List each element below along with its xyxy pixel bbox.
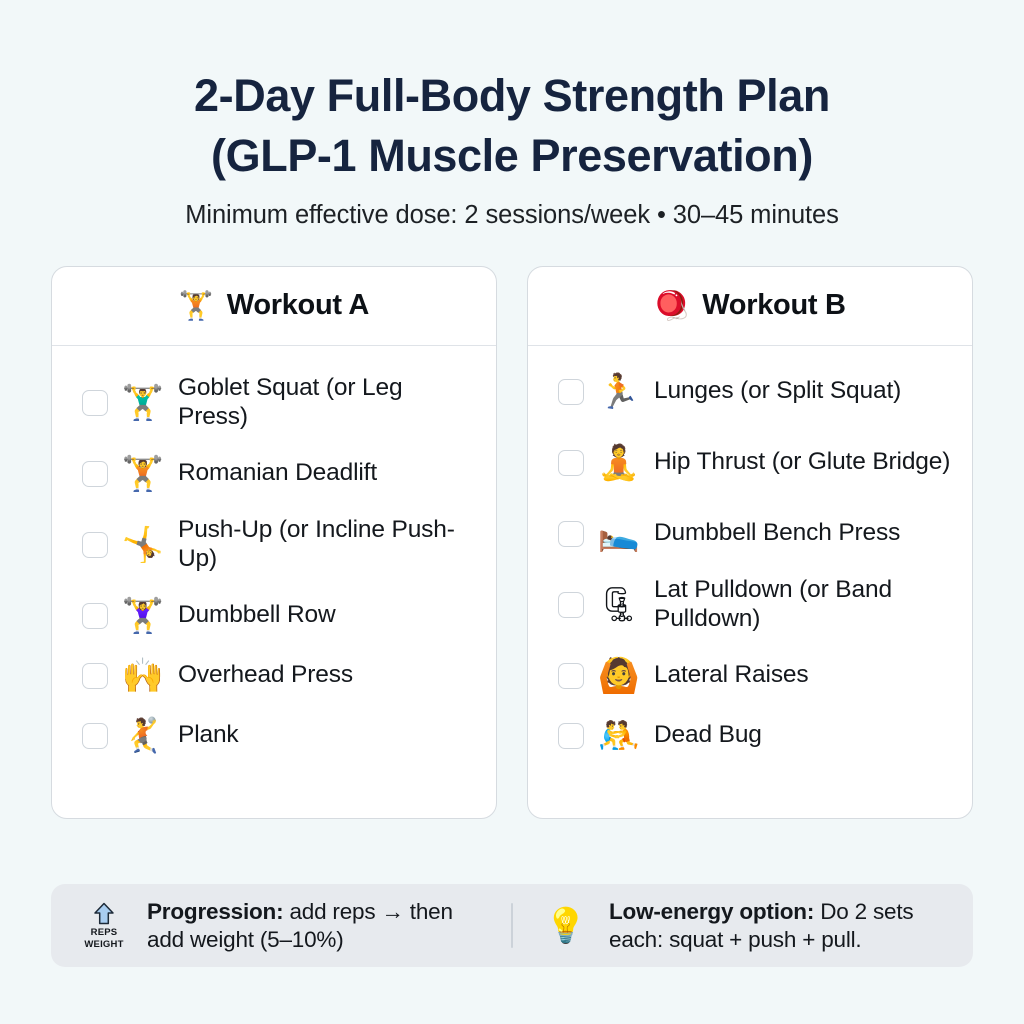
tip-low-energy: 💡 Low-energy option: Do 2 sets each: squ… (513, 884, 973, 967)
romanian-deadlift-icon: 🏋️ (120, 457, 166, 491)
tip-progression-text: Progression: add reps → then add weight … (147, 898, 491, 953)
exercise-label: Push-Up (or Incline Push-Up) (178, 516, 478, 574)
footer-tips-bar: REPS WEIGHT Progression: add reps → then… (51, 884, 973, 967)
exercise-checkbox[interactable] (82, 461, 108, 487)
list-item[interactable]: 🙆 Lateral Raises (528, 646, 972, 706)
list-item[interactable]: 🏃 Lunges (or Split Squat) (528, 362, 972, 422)
list-item[interactable]: 🤾 Plank (52, 706, 496, 766)
list-item[interactable]: 🏋️ Romanian Deadlift (52, 444, 496, 504)
dumbbell-row-icon: 🏋️‍♀️ (120, 599, 166, 633)
exercise-checkbox[interactable] (558, 663, 584, 689)
lat-pulldown-icon: 🗜 (596, 588, 642, 622)
list-item[interactable]: 🤸 Push-Up (or Incline Push-Up) (52, 504, 496, 586)
page-subtitle: Minimum effective dose: 2 sessions/week … (51, 200, 973, 232)
tip-progression: REPS WEIGHT Progression: add reps → then… (51, 884, 511, 967)
page-title-line-2: (GLP-1 Muscle Preservation) (51, 126, 973, 186)
lightbulb-glyph: 💡 (543, 909, 589, 943)
exercise-label: Lateral Raises (654, 661, 809, 690)
dead-bug-icon: 🤼 (596, 719, 642, 753)
bench-press-icon: 🛌 (596, 517, 642, 551)
workout-a-title: Workout A (227, 289, 369, 322)
workout-card-a: 🏋 Workout A 🏋️‍♂️ Goblet Squat (or Leg P… (51, 266, 497, 819)
goblet-squat-icon: 🏋️‍♂️ (120, 386, 166, 420)
exercise-label: Hip Thrust (or Glute Bridge) (654, 448, 950, 477)
kettlebell-icon: 🪀 (654, 292, 689, 320)
exercise-checkbox[interactable] (82, 532, 108, 558)
exercise-checkbox[interactable] (82, 663, 108, 689)
progression-icon-label-top: REPS (91, 927, 118, 938)
list-item[interactable]: 🗜 Lat Pulldown (or Band Pulldown) (528, 564, 972, 646)
lateral-raise-icon: 🙆 (596, 659, 642, 693)
tip-progression-lead: Progression: (147, 899, 283, 924)
list-item[interactable]: 🧘 Hip Thrust (or Glute Bridge) (528, 422, 972, 504)
workout-a-header: 🏋 Workout A (52, 267, 496, 346)
lightbulb-icon: 💡 (537, 909, 595, 943)
page-title: 2-Day Full-Body Strength Plan (GLP-1 Mus… (51, 66, 973, 186)
exercise-checkbox[interactable] (82, 723, 108, 749)
infographic-page: 2-Day Full-Body Strength Plan (GLP-1 Mus… (0, 0, 1024, 1024)
workout-b-list: 🏃 Lunges (or Split Squat) 🧘 Hip Thrust (… (528, 346, 972, 818)
list-item[interactable]: 🙌 Overhead Press (52, 646, 496, 706)
progression-icon-label-bottom: WEIGHT (84, 939, 123, 950)
tip-low-energy-lead: Low-energy option: (609, 899, 814, 924)
list-item[interactable]: 🛌 Dumbbell Bench Press (528, 504, 972, 564)
exercise-checkbox[interactable] (82, 603, 108, 629)
exercise-checkbox[interactable] (558, 592, 584, 618)
exercise-label: Overhead Press (178, 661, 353, 690)
workout-b-header: 🪀 Workout B (528, 267, 972, 346)
plank-icon: 🤾 (120, 719, 166, 753)
progression-arrow-icon: REPS WEIGHT (75, 901, 133, 949)
exercise-label: Dumbbell Row (178, 601, 336, 630)
push-up-icon: 🤸 (120, 528, 166, 562)
list-item[interactable]: 🏋️‍♂️ Goblet Squat (or Leg Press) (52, 362, 496, 444)
workout-cards: 🏋 Workout A 🏋️‍♂️ Goblet Squat (or Leg P… (51, 266, 973, 819)
list-item[interactable]: 🤼 Dead Bug (528, 706, 972, 766)
overhead-press-icon: 🙌 (120, 659, 166, 693)
exercise-checkbox[interactable] (558, 521, 584, 547)
exercise-label: Lat Pulldown (or Band Pulldown) (654, 576, 954, 634)
tip-low-energy-text: Low-energy option: Do 2 sets each: squat… (609, 898, 953, 953)
exercise-checkbox[interactable] (558, 723, 584, 749)
page-title-line-1: 2-Day Full-Body Strength Plan (51, 66, 973, 126)
exercise-label: Romanian Deadlift (178, 459, 377, 488)
exercise-checkbox[interactable] (82, 390, 108, 416)
exercise-label: Plank (178, 721, 239, 750)
exercise-label: Lunges (or Split Squat) (654, 377, 901, 406)
workout-card-b: 🪀 Workout B 🏃 Lunges (or Split Squat) 🧘 … (527, 266, 973, 819)
workout-a-list: 🏋️‍♂️ Goblet Squat (or Leg Press) 🏋️ Rom… (52, 346, 496, 818)
workout-b-title: Workout B (702, 289, 845, 322)
dumbbell-icon: 🏋 (179, 292, 214, 320)
hip-thrust-icon: 🧘 (596, 446, 642, 480)
exercise-checkbox[interactable] (558, 379, 584, 405)
lunge-icon: 🏃 (596, 375, 642, 409)
exercise-checkbox[interactable] (558, 450, 584, 476)
exercise-label: Dead Bug (654, 721, 762, 750)
page-header: 2-Day Full-Body Strength Plan (GLP-1 Mus… (51, 0, 973, 232)
exercise-label: Goblet Squat (or Leg Press) (178, 374, 478, 432)
list-item[interactable]: 🏋️‍♀️ Dumbbell Row (52, 586, 496, 646)
exercise-label: Dumbbell Bench Press (654, 519, 900, 548)
